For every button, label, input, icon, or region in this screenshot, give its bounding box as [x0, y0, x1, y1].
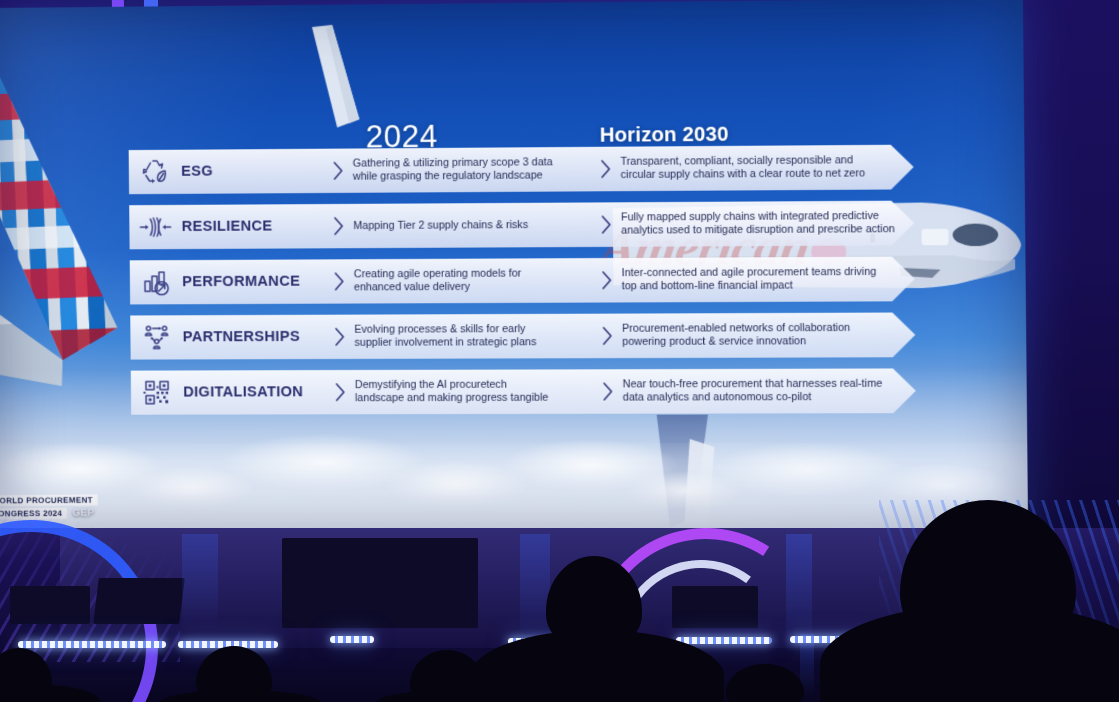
esg-chevron-cell: [322, 149, 353, 193]
esg-icon-cell: [129, 150, 182, 194]
led-strip-5: [676, 637, 772, 644]
pillar-title: PERFORMANCE: [182, 274, 300, 291]
stage-monitor-3: [672, 586, 758, 628]
chevron-right-icon: [598, 159, 611, 179]
chevron-right-icon: [333, 327, 346, 347]
text-line-2: supplier involvement in strategic plans: [354, 336, 536, 350]
text-line-2: data analytics and autonomous co-pilot: [623, 391, 883, 405]
digitalisation-icon-cell: [131, 370, 184, 414]
performance-title-cell: PERFORMANCE: [182, 259, 324, 304]
pillar-title: RESILIENCE: [182, 218, 273, 235]
resilience-chevron-cell-2: [590, 202, 621, 247]
resilience-2030-text: Fully mapped supply chains with integrat…: [621, 201, 909, 247]
text-line-1: Demystifying the AI procuretech: [355, 379, 549, 393]
resilience-title-cell: RESILIENCE: [181, 204, 323, 249]
recycle-leaf-icon: [139, 157, 171, 187]
text-line-1: Gathering & utilizing primary scope 3 da…: [353, 156, 553, 170]
column-header-horizon-2030: Horizon 2030: [600, 124, 729, 148]
stage-monitor-1: [10, 586, 90, 624]
text-line-1: Near touch-free procurement that harness…: [623, 378, 883, 392]
light-beam-2: [520, 534, 550, 644]
text-line-2: powering product & service innovation: [622, 335, 850, 349]
resilience-chevron-cell: [323, 204, 354, 248]
resilience-icon-cell: [129, 205, 182, 249]
pillar-row-digitalisation: DIGITALISATION Demystifying the AI procu…: [131, 368, 927, 414]
pillar-row-esg: ESG Gathering & utilizing primary scope …: [129, 145, 925, 195]
digitalisation-chevron-cell: [324, 370, 355, 414]
chevron-right-icon: [331, 161, 344, 181]
text-line-1: Mapping Tier 2 supply chains & risks: [353, 219, 528, 233]
text-line-1: Creating agile operating models for: [354, 268, 522, 282]
performance-2030-text: Inter-connected and agile procurement te…: [621, 257, 909, 303]
pillar-row-resilience: RESILIENCE Mapping Tier 2 supply chains …: [129, 201, 925, 250]
text-line-2: circular supply chains with a clear rout…: [621, 167, 866, 182]
logo-line-1: WORLD PROCUREMENT: [0, 495, 98, 507]
chevron-right-icon: [331, 216, 344, 236]
text-line-1: Procurement-enabled networks of collabor…: [622, 322, 850, 336]
digitalisation-chevron-cell-2: [592, 369, 623, 414]
stage-panel-1: [282, 538, 478, 628]
text-line-1: Evolving processes & skills for early: [354, 323, 536, 337]
partnerships-chevron-cell-2: [591, 314, 622, 359]
pillar-rows: ESG Gathering & utilizing primary scope …: [129, 145, 927, 426]
qr-code-icon: [141, 378, 173, 408]
performance-2024-text: Creating agile operating models for enha…: [354, 258, 591, 303]
text-line-2: enhanced value delivery: [354, 281, 522, 295]
pillar-row-performance: PERFORMANCE Creating agile operating mod…: [130, 256, 926, 304]
esg-2030-text: Transparent, compliant, socially respons…: [620, 145, 908, 192]
bar-chart-growth-icon: [140, 267, 172, 297]
led-strip-3: [330, 636, 374, 643]
chevron-right-icon: [601, 381, 614, 401]
pillar-row-partnerships: PARTNERSHIPS Evolving processes & skills…: [130, 312, 926, 359]
esg-title-cell: ESG: [181, 149, 323, 194]
partnerships-icon-cell: [130, 315, 183, 359]
text-line-1: Inter-connected and agile procurement te…: [621, 266, 876, 280]
text-line-2: landscape and making progress tangible: [355, 392, 549, 406]
performance-chevron-cell: [323, 259, 354, 303]
text-line-2: top and bottom-line financial impact: [622, 279, 877, 293]
partnerships-title-cell: PARTNERSHIPS: [183, 315, 325, 360]
light-beam-1: [182, 534, 218, 630]
chevron-right-icon: [332, 271, 345, 291]
pillar-title: ESG: [181, 164, 213, 180]
partnerships-2024-text: Evolving processes & skills for early su…: [354, 314, 591, 359]
text-line-2: analytics used to mitigate disruption an…: [621, 223, 895, 238]
performance-chevron-cell-2: [591, 258, 622, 303]
resilience-2024-text: Mapping Tier 2 supply chains & risks: [353, 202, 590, 248]
chevron-right-icon: [600, 270, 613, 290]
pillar-title: PARTNERSHIPS: [183, 329, 300, 345]
text-line-2: while grasping the regulatory landscape: [353, 169, 553, 183]
resilience-arrows-icon: [139, 212, 171, 242]
digitalisation-2030-text: Near touch-free procurement that harness…: [622, 368, 910, 413]
led-strip-1: [18, 641, 166, 648]
esg-chevron-cell-2: [590, 147, 621, 192]
pillar-title: DIGITALISATION: [183, 384, 303, 400]
esg-2024-text: Gathering & utilizing primary scope 3 da…: [353, 147, 590, 193]
chevron-right-icon: [599, 214, 612, 234]
digitalisation-title-cell: DIGITALISATION: [183, 370, 325, 415]
partnerships-2030-text: Procurement-enabled networks of collabor…: [622, 312, 910, 358]
digitalisation-2024-text: Demystifying the AI procuretech landscap…: [355, 369, 593, 414]
conference-stage-photo: American: [0, 0, 1119, 702]
stage-monitor-2: [93, 578, 185, 624]
performance-icon-cell: [130, 260, 183, 304]
partnerships-chevron-cell: [324, 315, 355, 359]
people-network-icon: [140, 322, 172, 352]
chevron-right-icon: [600, 326, 613, 346]
projection-screen: American: [0, 0, 1028, 530]
chevron-right-icon: [333, 382, 346, 402]
